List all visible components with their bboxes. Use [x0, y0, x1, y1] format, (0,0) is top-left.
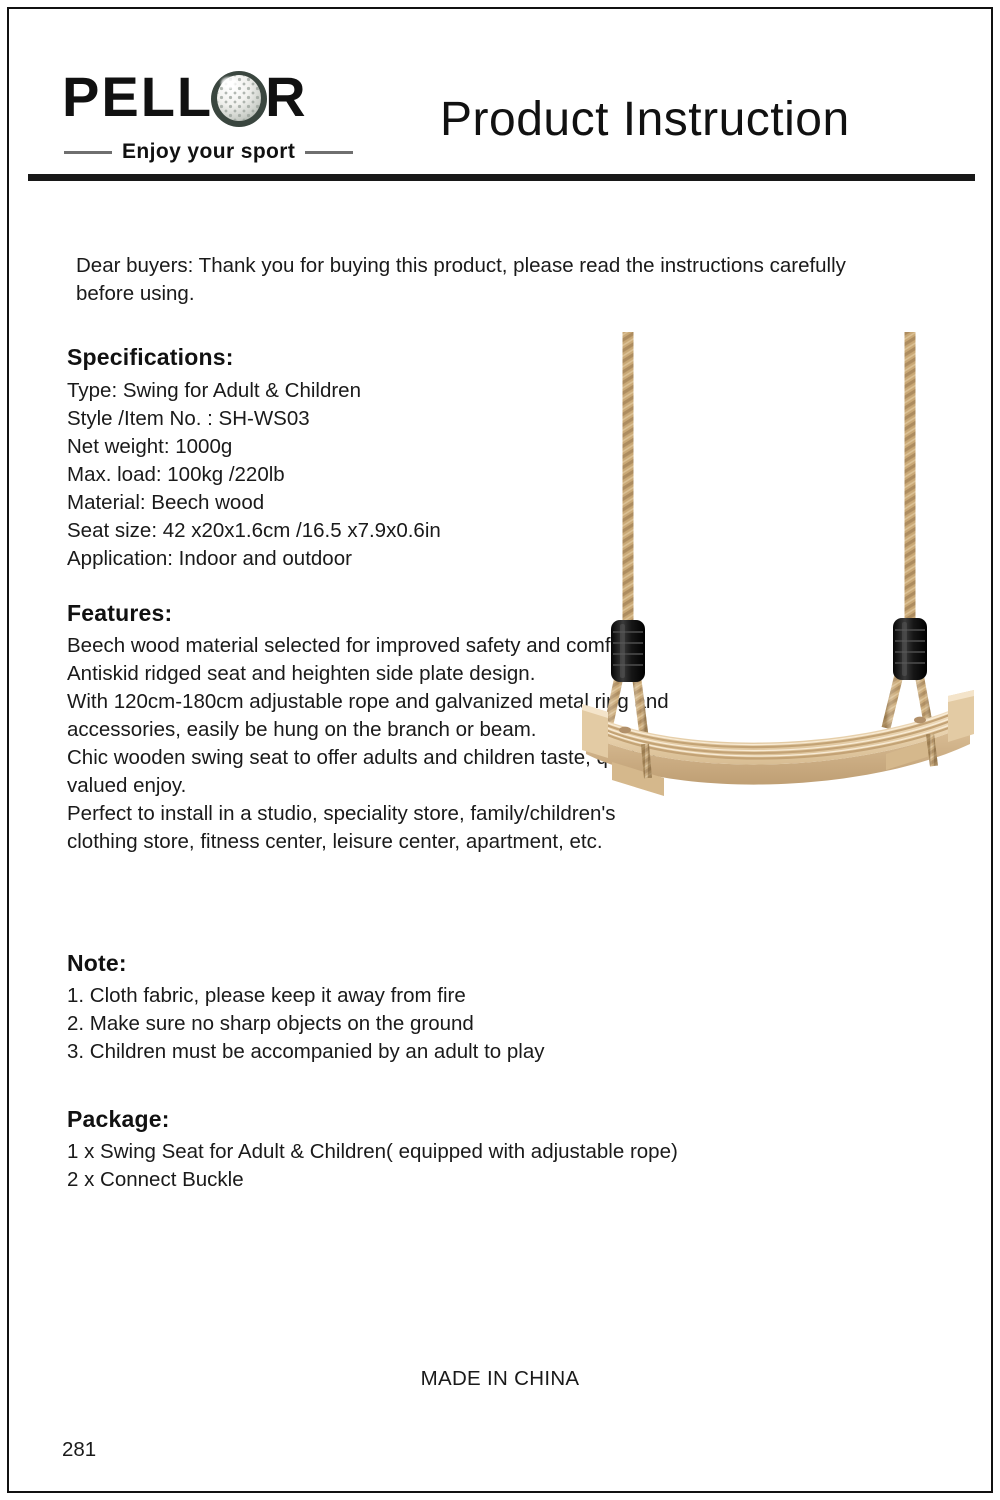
specifications-list: Type: Swing for Adult & Children Style /…: [67, 377, 587, 573]
note-heading: Note:: [67, 950, 127, 977]
product-image-swing: [568, 330, 988, 820]
rope-left: [606, 332, 645, 744]
spec-line: Seat size: 42 x20x1.6cm /16.5 x7.9x0.6in: [67, 517, 587, 545]
package-heading: Package:: [67, 1106, 170, 1133]
spec-line: Net weight: 1000g: [67, 433, 587, 461]
note-line: 2. Make sure no sharp objects on the gro…: [67, 1010, 682, 1038]
spec-line: Material: Beech wood: [67, 489, 587, 517]
package-line: 1 x Swing Seat for Adult & Children( equ…: [67, 1138, 787, 1166]
note-line: 1. Cloth fabric, please keep it away fro…: [67, 982, 682, 1010]
package-line: 2 x Connect Buckle: [67, 1166, 787, 1194]
note-list: 1. Cloth fabric, please keep it away fro…: [67, 982, 682, 1066]
rope-grip-left: [611, 620, 645, 682]
intro-paragraph: Dear buyers: Thank you for buying this p…: [76, 252, 866, 308]
specifications-heading: Specifications:: [67, 344, 234, 371]
package-list: 1 x Swing Seat for Adult & Children( equ…: [67, 1138, 787, 1194]
note-line: 3. Children must be accompanied by an ad…: [67, 1038, 682, 1066]
rope-grip-right: [893, 618, 927, 680]
made-in-label: MADE IN CHINA: [0, 1367, 1000, 1391]
features-heading: Features:: [67, 600, 172, 627]
spec-line: Max. load: 100kg /220lb: [67, 461, 587, 489]
spec-line: Style /Item No. : SH-WS03: [67, 405, 587, 433]
spec-line: Application: Indoor and outdoor: [67, 545, 587, 573]
instruction-page: PELLR Enjoy your sport Product Instructi…: [0, 0, 1000, 1500]
page-number: 281: [62, 1438, 96, 1462]
spec-line: Type: Swing for Adult & Children: [67, 377, 587, 405]
